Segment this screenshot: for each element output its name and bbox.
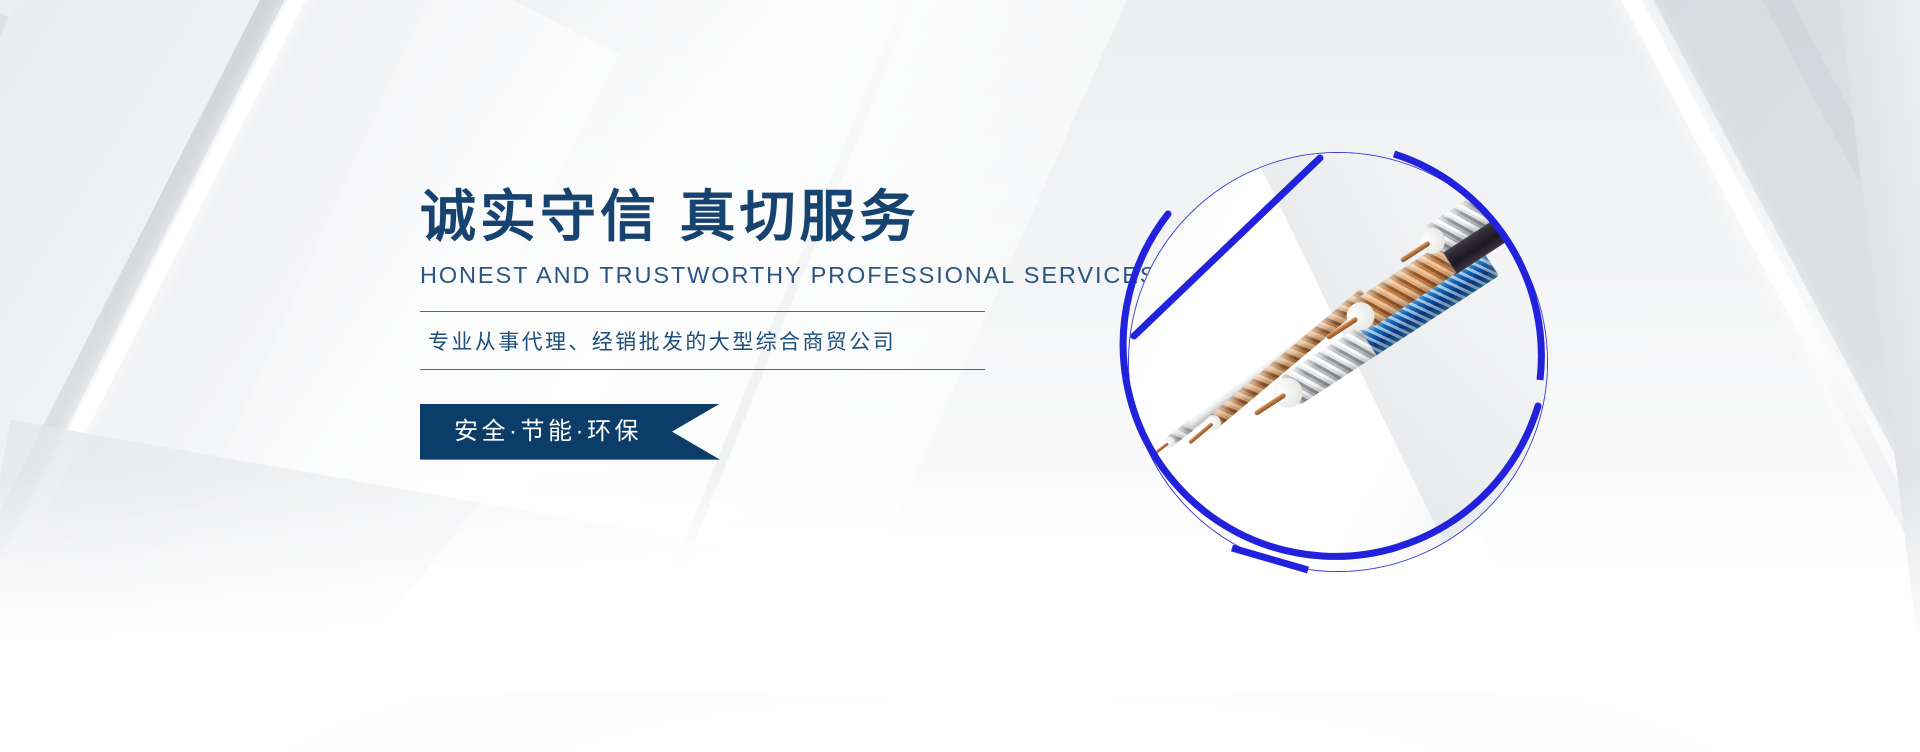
- ring-tangent-upper-left: [1134, 158, 1320, 336]
- background-pinstripe-white: [0, 0, 414, 752]
- status-badge-label: 安全·节能·环保: [420, 404, 720, 460]
- ring-arc-main: [1123, 214, 1538, 556]
- background-band-far-right: [1831, 0, 1920, 752]
- divider-top: [420, 311, 985, 312]
- page-subtitle: HONEST AND TRUSTWORTHY PROFESSIONAL SERV…: [420, 262, 1060, 289]
- page-title: 诚实守信 真切服务: [420, 186, 1060, 248]
- background-pinstripe-right: [1560, 0, 1920, 627]
- company-description: 专业从事代理、经销批发的大型综合商贸公司: [420, 312, 985, 369]
- product-medallion: [1128, 152, 1548, 572]
- status-badge: 安全·节能·环保: [420, 404, 720, 460]
- background-pinstripe-grey: [0, 0, 392, 752]
- background-highlight-strip-left: [0, 0, 42, 752]
- divider-bottom: [420, 369, 985, 370]
- background-wedge-bottom-left: [0, 420, 719, 752]
- ring-arc-upper-right: [1394, 154, 1541, 380]
- blue-accent-ring: [1072, 118, 1612, 618]
- hero-banner: 诚实守信 真切服务 HONEST AND TRUSTWORTHY PROFESS…: [0, 0, 1920, 752]
- background-floor-lip: [120, 641, 1620, 687]
- hero-copy-block: 诚实守信 真切服务 HONEST AND TRUSTWORTHY PROFESS…: [420, 186, 1060, 460]
- badge-container: 安全·节能·环保: [420, 404, 1060, 460]
- background-floor-glow: [0, 472, 1920, 752]
- background-plane-left-wedge: [0, 0, 417, 752]
- description-rules: 专业从事代理、经销批发的大型综合商贸公司: [420, 311, 985, 370]
